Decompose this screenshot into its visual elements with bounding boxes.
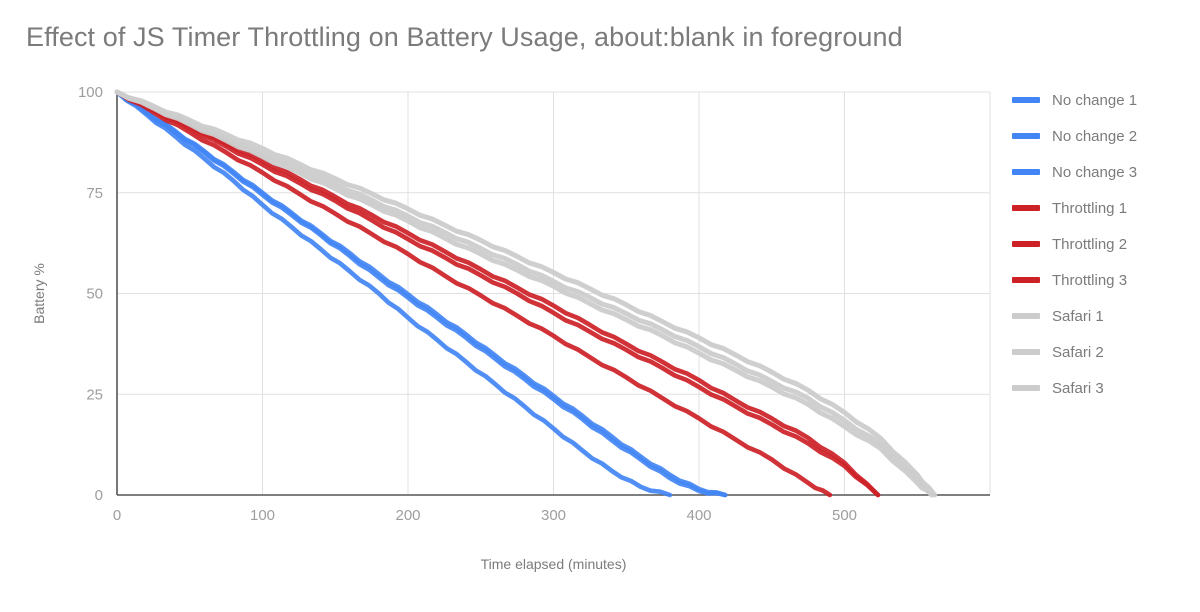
legend-item-label: No change 2 <box>1052 128 1137 145</box>
chart-container: Effect of JS Timer Throttling on Battery… <box>0 0 1200 612</box>
legend-color-swatch <box>1012 133 1040 139</box>
x-tick-label: 0 <box>113 507 121 524</box>
legend-color-swatch <box>1012 385 1040 391</box>
y-tick-label: 25 <box>86 386 103 403</box>
legend-item[interactable]: Throttling 1 <box>1012 190 1198 226</box>
y-tick-label: 75 <box>86 185 103 202</box>
legend-item[interactable]: No change 1 <box>1012 82 1198 118</box>
y-tick-label: 50 <box>86 286 103 303</box>
legend-color-swatch <box>1012 277 1040 283</box>
y-axis-title: Battery % <box>31 263 47 324</box>
legend-item-label: Safari 3 <box>1052 380 1104 397</box>
x-tick-label: 400 <box>686 507 711 524</box>
x-axis-title: Time elapsed (minutes) <box>481 556 627 572</box>
y-axis-tick-labels: 0255075100 <box>78 84 103 504</box>
legend-item[interactable]: No change 2 <box>1012 118 1198 154</box>
chart-legend: No change 1No change 2No change 3Throttl… <box>1012 82 1198 406</box>
y-tick-label: 0 <box>95 487 103 504</box>
legend-color-swatch <box>1012 97 1040 103</box>
x-tick-label: 500 <box>832 507 857 524</box>
legend-item[interactable]: Throttling 3 <box>1012 262 1198 298</box>
legend-color-swatch <box>1012 205 1040 211</box>
x-tick-label: 200 <box>395 507 420 524</box>
legend-color-swatch <box>1012 349 1040 355</box>
legend-item-label: Safari 1 <box>1052 308 1104 325</box>
legend-item-label: No change 3 <box>1052 164 1137 181</box>
legend-item[interactable]: Safari 3 <box>1012 370 1198 406</box>
legend-item-label: Safari 2 <box>1052 344 1104 361</box>
legend-item[interactable]: No change 3 <box>1012 154 1198 190</box>
legend-item[interactable]: Throttling 2 <box>1012 226 1198 262</box>
x-axis-tick-labels: 0100200300400500 <box>113 507 857 524</box>
legend-item-label: Throttling 2 <box>1052 236 1127 253</box>
y-tick-label: 100 <box>78 84 103 101</box>
legend-item-label: No change 1 <box>1052 92 1137 109</box>
legend-item[interactable]: Safari 2 <box>1012 334 1198 370</box>
legend-item[interactable]: Safari 1 <box>1012 298 1198 334</box>
x-tick-label: 300 <box>541 507 566 524</box>
legend-color-swatch <box>1012 169 1040 175</box>
x-tick-label: 100 <box>250 507 275 524</box>
legend-item-label: Throttling 1 <box>1052 200 1127 217</box>
legend-item-label: Throttling 3 <box>1052 272 1127 289</box>
legend-color-swatch <box>1012 313 1040 319</box>
legend-color-swatch <box>1012 241 1040 247</box>
